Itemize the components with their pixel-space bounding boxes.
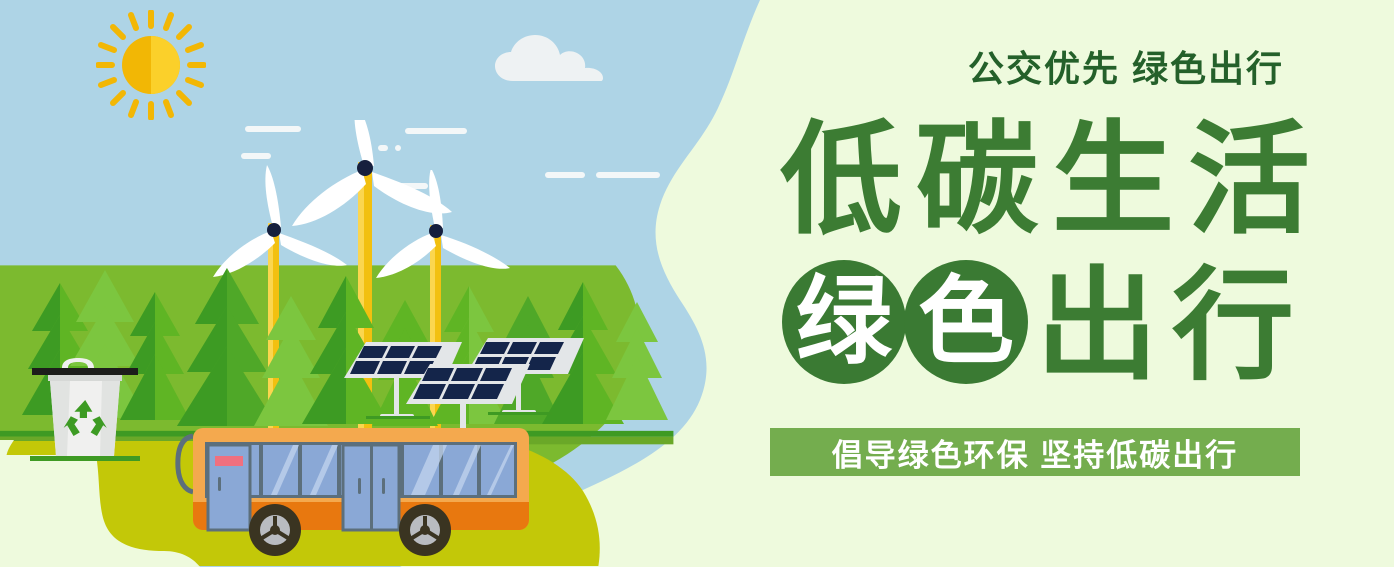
sun-icon xyxy=(96,10,206,120)
bus-wheel-rear xyxy=(399,504,451,556)
main-title: 低碳生活 绿 色 出行 xyxy=(700,100,1394,400)
title-line-1: 低碳生活 xyxy=(780,109,1324,251)
badge-char-2: 色 xyxy=(918,269,1014,376)
corner-cutout-edge xyxy=(0,440,20,460)
recycle-bin-icon xyxy=(30,358,140,463)
corner-cutout-shape xyxy=(0,455,200,567)
kicker-text: 公交优先 绿色出行 xyxy=(968,40,1284,92)
slogan-text: 倡导绿色环保 坚持低碳出行 xyxy=(832,430,1239,475)
badge-char-1: 绿 xyxy=(796,269,893,376)
poster-canvas: 公交优先 绿色出行 低碳生活 绿 色 出行 倡导绿色环保 坚持低碳出行 xyxy=(0,0,1394,567)
cloud-streak-7 xyxy=(241,153,271,159)
bus-wheel-front xyxy=(249,504,301,556)
title-line-2: 绿 色 出行 xyxy=(782,255,1308,397)
title-artwork: 低碳生活 绿 色 出行 xyxy=(700,100,1394,400)
slogan-banner: 倡导绿色环保 坚持低碳出行 xyxy=(770,428,1300,476)
pine-tree-11 xyxy=(604,302,670,432)
text-panel: 公交优先 绿色出行 低碳生活 绿 色 出行 倡导绿色环保 坚持低碳出行 xyxy=(700,0,1394,567)
cloud-blob-icon xyxy=(495,35,615,83)
bus-illustration xyxy=(175,420,535,560)
title-line-2-plain: 出行 xyxy=(1036,255,1308,397)
cloud-streak-3 xyxy=(545,172,585,178)
cloud-streak-4 xyxy=(596,172,660,178)
